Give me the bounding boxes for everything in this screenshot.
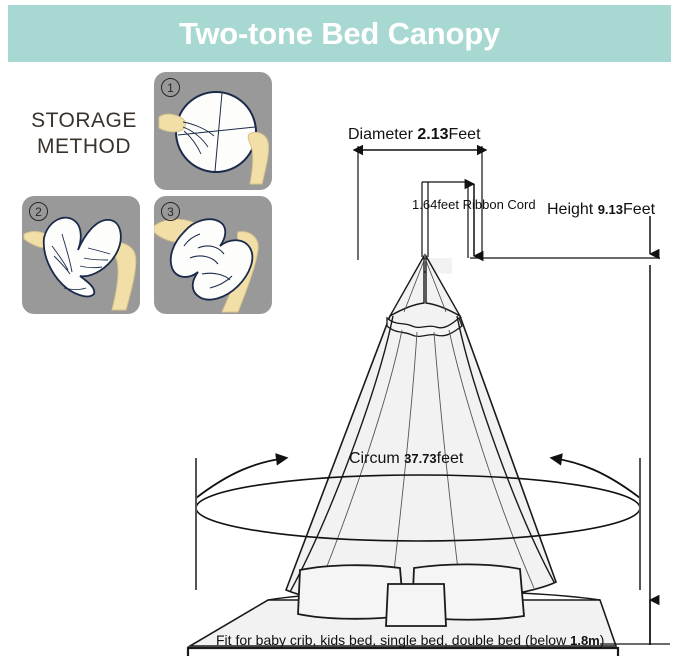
fit-note-suffix: )	[600, 632, 605, 648]
ribbon-value: 1.64	[412, 197, 437, 212]
height-suffix: Feet	[623, 201, 655, 218]
diameter-suffix: Feet	[449, 126, 481, 143]
page-title: Two-tone Bed Canopy	[179, 16, 500, 52]
diameter-value: 2.13	[417, 126, 448, 143]
ribbon-cord-label: 1.64feet Ribbon Cord	[412, 197, 536, 212]
ribbon-cord	[422, 182, 468, 258]
circumference-label: Circum 37.73feet	[349, 450, 463, 468]
circum-value: 37.73	[404, 451, 437, 466]
circum-suffix: feet	[437, 450, 464, 467]
height-value: 9.13	[598, 202, 623, 217]
header-banner: Two-tone Bed Canopy	[8, 5, 671, 62]
canopy-body	[286, 256, 556, 606]
diameter-label: Diameter 2.13Feet	[348, 126, 481, 144]
diameter-prefix: Diameter	[348, 126, 417, 143]
fit-note-value: 1.8m	[570, 633, 600, 648]
height-label: Height 9.13Feet	[547, 201, 655, 219]
product-infographic: Two-tone Bed Canopy STORAGE METHOD	[0, 0, 679, 656]
fit-note: Fit for baby crib, kids bed, single bed,…	[216, 632, 604, 648]
circum-prefix: Circum	[349, 450, 404, 467]
ribbon-text: feet Ribbon Cord	[437, 197, 535, 212]
fit-note-text: Fit for baby crib, kids bed, single bed,…	[216, 632, 570, 648]
canopy-dimension-diagram	[0, 60, 679, 656]
height-prefix: Height	[547, 201, 598, 218]
